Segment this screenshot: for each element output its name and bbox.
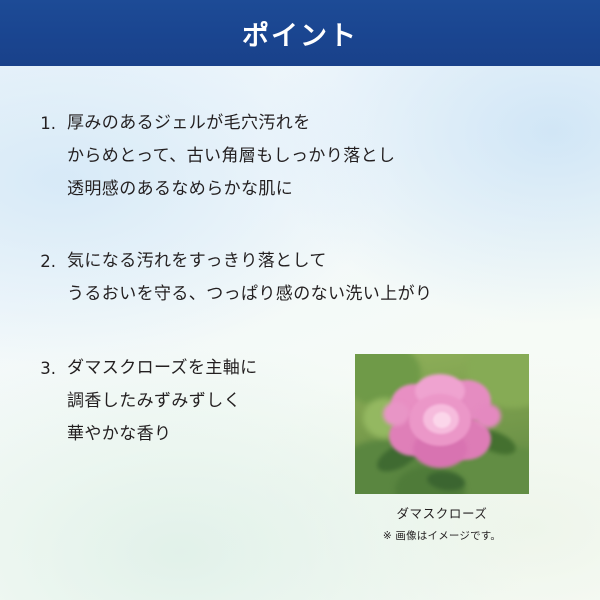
point-line: 透明感のあるなめらかな肌に [67, 173, 395, 206]
damask-rose-photo [355, 354, 529, 494]
rose-figure: ダマスクローズ ※ 画像はイメージです。 [355, 354, 529, 543]
point-line: からめとって、古い角層もしっかり落とし [67, 140, 395, 173]
point-item-3: 3. ダマスクローズを主軸に 調香したみずみずしく 華やかな香り [22, 352, 258, 451]
point-item-1: 1. 厚みのあるジェルが毛穴汚れを からめとって、古い角層もしっかり落とし 透明… [22, 107, 395, 206]
point-number: 2. [22, 245, 67, 278]
rose-bloom [389, 374, 493, 470]
point-item-2: 2. 気になる汚れをすっきり落として うるおいを守る、つっぱり感のない洗い上がり [22, 245, 432, 311]
point-line: うるおいを守る、つっぱり感のない洗い上がり [67, 278, 432, 311]
point-number: 3. [22, 352, 67, 385]
point-number: 1. [22, 107, 67, 140]
point-text: 厚みのあるジェルが毛穴汚れを からめとって、古い角層もしっかり落とし 透明感のあ… [67, 107, 395, 206]
figure-caption: ダマスクローズ [355, 503, 529, 522]
slide-page: ポイント 1. 厚みのあるジェルが毛穴汚れを からめとって、古い角層もしっかり落… [0, 0, 600, 600]
point-text: 気になる汚れをすっきり落として うるおいを守る、つっぱり感のない洗い上がり [67, 245, 432, 311]
point-text: ダマスクローズを主軸に 調香したみずみずしく 華やかな香り [67, 352, 258, 451]
point-line: 華やかな香り [67, 418, 258, 451]
points-content: 1. 厚みのあるジェルが毛穴汚れを からめとって、古い角層もしっかり落とし 透明… [0, 66, 600, 600]
page-title: ポイント [0, 0, 600, 66]
point-line: 気になる汚れをすっきり落として [67, 245, 432, 278]
point-line: ダマスクローズを主軸に [67, 352, 258, 385]
figure-note: ※ 画像はイメージです。 [355, 528, 529, 543]
point-line: 調香したみずみずしく [67, 385, 258, 418]
point-line: 厚みのあるジェルが毛穴汚れを [67, 107, 395, 140]
